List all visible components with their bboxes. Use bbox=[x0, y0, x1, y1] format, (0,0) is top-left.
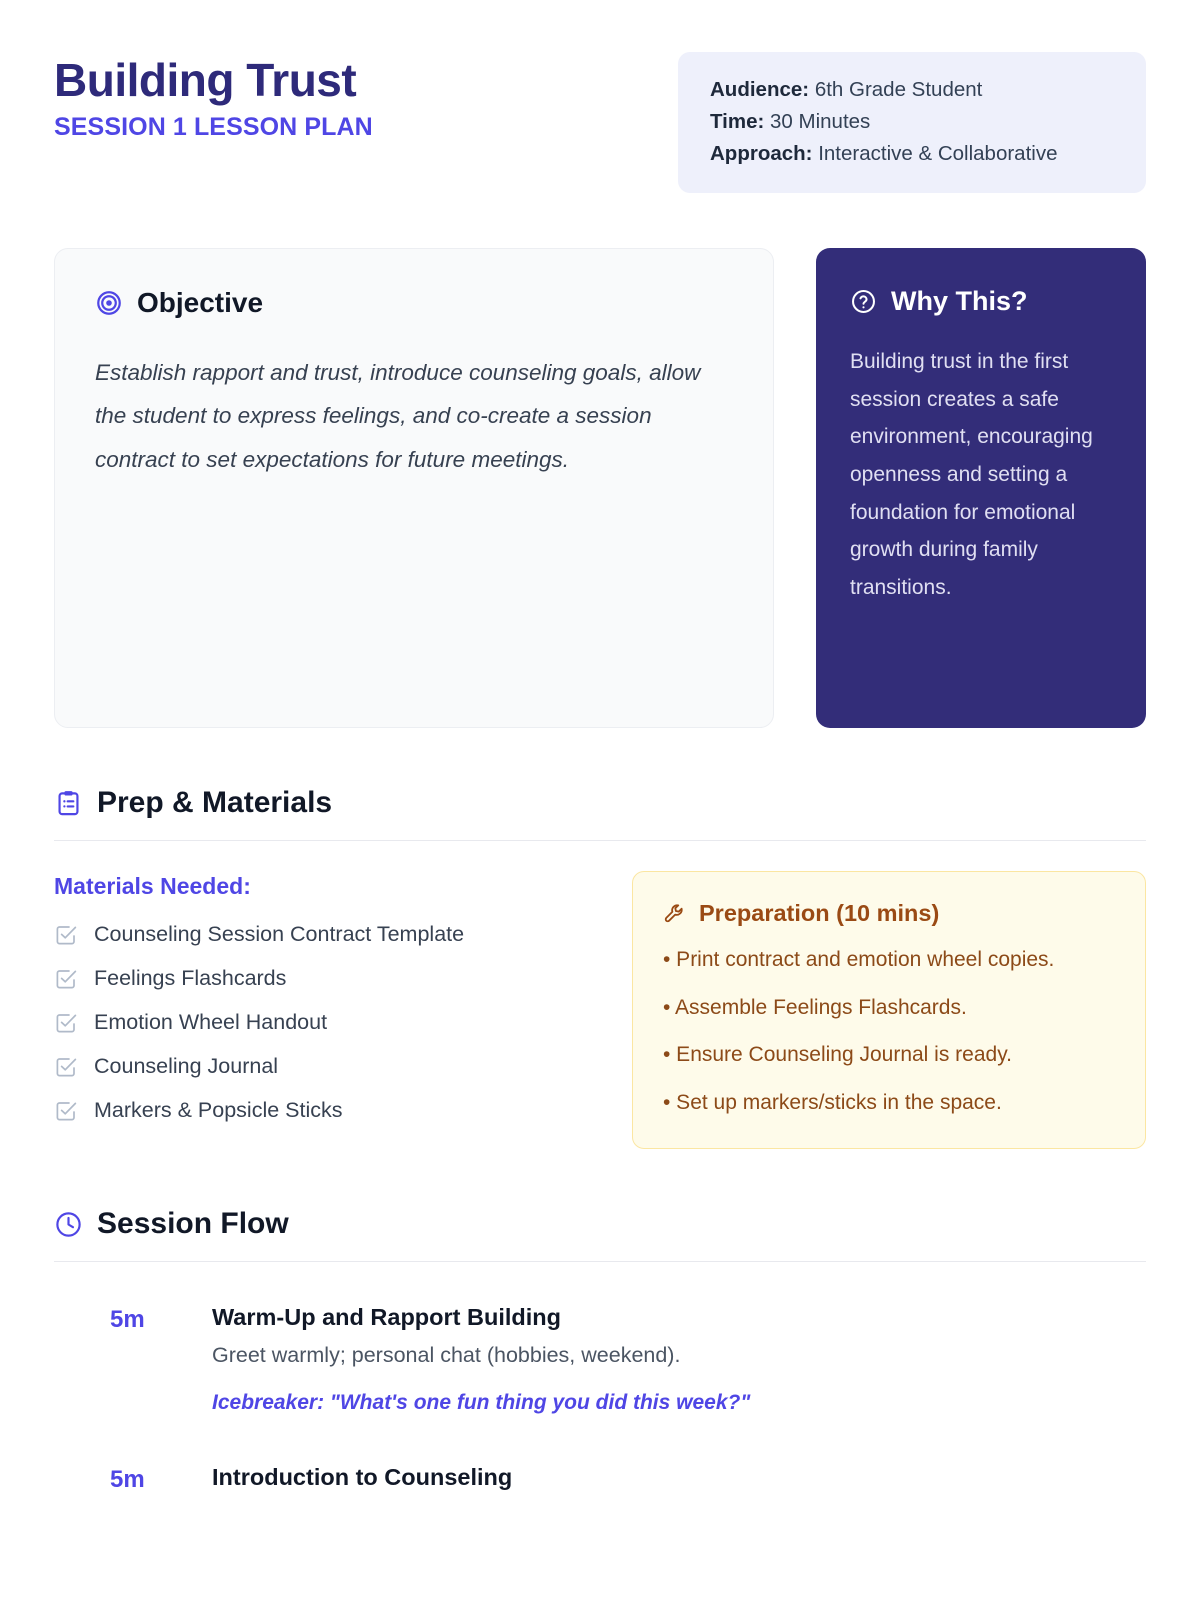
session-flow-list: 5m Warm-Up and Rapport Building Greet wa… bbox=[54, 1304, 1146, 1499]
material-label: Counseling Journal bbox=[94, 1054, 278, 1079]
check-square-icon bbox=[54, 1099, 78, 1123]
session-flow-section: Session Flow 5m Warm-Up and Rapport Buil… bbox=[54, 1207, 1146, 1499]
check-square-icon bbox=[54, 967, 78, 991]
lesson-plan-page: Building Trust SESSION 1 LESSON PLAN Aud… bbox=[0, 0, 1200, 1600]
materials-column: Materials Needed: Counseling Session Con… bbox=[54, 871, 572, 1142]
page-title: Building Trust bbox=[54, 56, 373, 104]
meta-value-audience: 6th Grade Student bbox=[815, 78, 983, 101]
meta-value-approach: Interactive & Collaborative bbox=[818, 142, 1057, 165]
flow-item-body: Warm-Up and Rapport Building Greet warml… bbox=[212, 1304, 1146, 1417]
prep-materials-section: Prep & Materials Materials Needed: Couns… bbox=[54, 786, 1146, 1149]
objective-text: Establish rapport and trust, introduce c… bbox=[95, 351, 733, 481]
materials-needed-label: Materials Needed: bbox=[54, 873, 572, 900]
title-block: Building Trust SESSION 1 LESSON PLAN bbox=[54, 50, 373, 142]
meta-row-time: Time: 30 Minutes bbox=[710, 106, 1118, 138]
page-header: Building Trust SESSION 1 LESSON PLAN Aud… bbox=[54, 50, 1146, 193]
objective-card: Objective Establish rapport and trust, i… bbox=[54, 248, 774, 728]
meta-value-time: 30 Minutes bbox=[770, 110, 870, 133]
why-this-title: Why This? bbox=[891, 286, 1028, 317]
prep-section-header: Prep & Materials bbox=[54, 786, 1146, 840]
question-circle-icon bbox=[850, 288, 877, 315]
session-flow-header: Session Flow bbox=[54, 1207, 1146, 1261]
material-label: Markers & Popsicle Sticks bbox=[94, 1098, 343, 1123]
meta-row-approach: Approach: Interactive & Collaborative bbox=[710, 138, 1118, 170]
check-square-icon bbox=[54, 923, 78, 947]
session-flow-title: Session Flow bbox=[97, 1207, 289, 1241]
flow-item: 5m Introduction to Counseling bbox=[54, 1464, 1146, 1500]
meta-row-audience: Audience: 6th Grade Student bbox=[710, 74, 1118, 106]
page-subtitle: SESSION 1 LESSON PLAN bbox=[54, 113, 373, 142]
preparation-header: Preparation (10 mins) bbox=[663, 900, 1115, 927]
why-this-card-header: Why This? bbox=[850, 286, 1112, 317]
prep-section-title: Prep & Materials bbox=[97, 786, 332, 820]
flow-item: 5m Warm-Up and Rapport Building Greet wa… bbox=[54, 1304, 1146, 1417]
preparation-item: • Assemble Feelings Flashcards. bbox=[663, 993, 1115, 1023]
objective-title: Objective bbox=[137, 287, 263, 319]
meta-label-time: Time: bbox=[710, 110, 764, 133]
session-meta-box: Audience: 6th Grade Student Time: 30 Min… bbox=[678, 52, 1146, 193]
flow-item-description: Greet warmly; personal chat (hobbies, we… bbox=[212, 1340, 1146, 1370]
why-this-text: Building trust in the first session crea… bbox=[850, 343, 1112, 606]
preparation-title: Preparation (10 mins) bbox=[699, 900, 939, 927]
flow-item-body: Introduction to Counseling bbox=[212, 1464, 1146, 1500]
flow-item-title: Introduction to Counseling bbox=[212, 1464, 1146, 1491]
flow-item-title: Warm-Up and Rapport Building bbox=[212, 1304, 1146, 1331]
material-label: Emotion Wheel Handout bbox=[94, 1010, 327, 1035]
flow-item-duration: 5m bbox=[110, 1304, 184, 1417]
clipboard-list-icon bbox=[54, 789, 83, 818]
material-item: Feelings Flashcards bbox=[54, 966, 572, 991]
preparation-callout: Preparation (10 mins) • Print contract a… bbox=[632, 871, 1146, 1149]
check-square-icon bbox=[54, 1055, 78, 1079]
material-item: Counseling Session Contract Template bbox=[54, 922, 572, 947]
material-item: Markers & Popsicle Sticks bbox=[54, 1098, 572, 1123]
check-square-icon bbox=[54, 1011, 78, 1035]
flow-item-note: Icebreaker: "What's one fun thing you di… bbox=[212, 1388, 1146, 1417]
why-this-card: Why This? Building trust in the first se… bbox=[816, 248, 1146, 728]
flow-item-duration: 5m bbox=[110, 1464, 184, 1500]
preparation-item: • Set up markers/sticks in the space. bbox=[663, 1088, 1115, 1118]
wrench-icon bbox=[663, 902, 687, 926]
material-label: Counseling Session Contract Template bbox=[94, 922, 464, 947]
material-item: Counseling Journal bbox=[54, 1054, 572, 1079]
session-flow-divider bbox=[54, 1261, 1146, 1262]
preparation-item: • Print contract and emotion wheel copie… bbox=[663, 945, 1115, 975]
meta-label-approach: Approach: bbox=[710, 142, 813, 165]
objective-card-header: Objective bbox=[95, 287, 733, 319]
prep-row: Materials Needed: Counseling Session Con… bbox=[54, 871, 1146, 1149]
clock-icon bbox=[54, 1210, 83, 1239]
material-item: Emotion Wheel Handout bbox=[54, 1010, 572, 1035]
cards-row: Objective Establish rapport and trust, i… bbox=[54, 248, 1146, 728]
prep-section-divider bbox=[54, 840, 1146, 841]
target-icon bbox=[95, 289, 123, 317]
material-label: Feelings Flashcards bbox=[94, 966, 286, 991]
preparation-item: • Ensure Counseling Journal is ready. bbox=[663, 1040, 1115, 1070]
meta-label-audience: Audience: bbox=[710, 78, 809, 101]
